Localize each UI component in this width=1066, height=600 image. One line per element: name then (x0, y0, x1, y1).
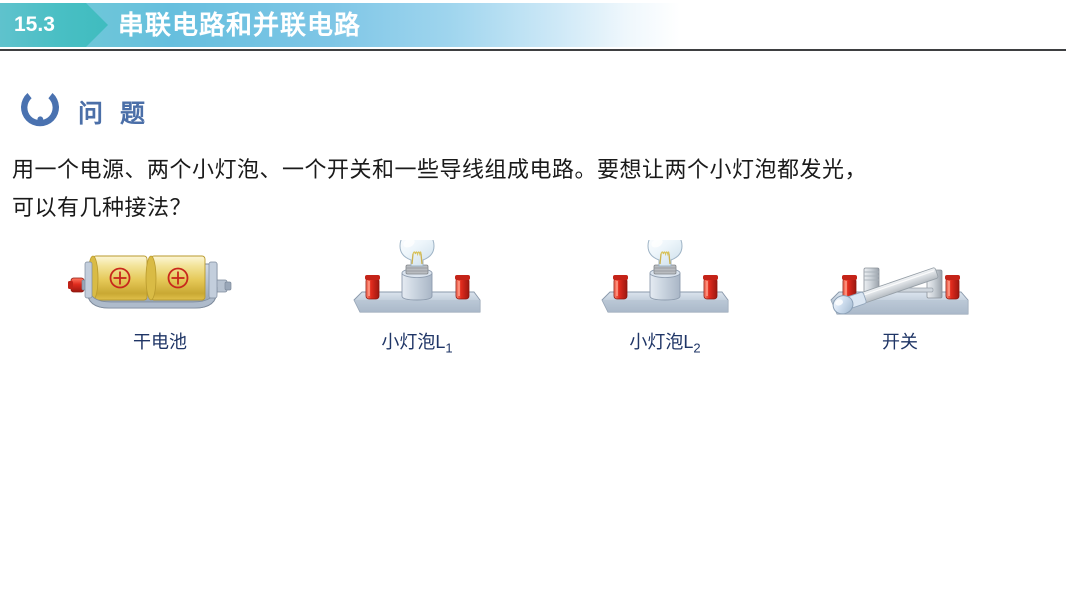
section-number: 15.3 (14, 10, 55, 40)
apparatus-caption-bulb-2: 小灯泡L2 (570, 328, 760, 356)
knife-switch-figure (805, 240, 995, 326)
apparatus-caption-switch-text: 开关 (882, 332, 918, 352)
apparatus-caption-battery-text: 干电池 (133, 332, 187, 352)
question-body-line-2: 可以有几种接法？ (12, 190, 1052, 228)
apparatus-item-battery: 干电池 (65, 240, 255, 360)
apparatus-row: 干电池 (0, 240, 1066, 360)
header-divider-rule (0, 49, 1066, 51)
question-body-line-1: 用一个电源、两个小灯泡、一个开关和一些导线组成电路。要想让两个小灯泡都发光， (12, 152, 1052, 190)
page-title: 串联电路和并联电路 (118, 6, 361, 44)
header-banner: 15.3 串联电路和并联电路 (0, 0, 1066, 50)
apparatus-item-switch: 开关 (805, 240, 995, 360)
light-bulb-on-base-figure (322, 240, 512, 326)
dry-cell-battery-holder-figure (65, 240, 255, 326)
question-label: 问 题 (78, 94, 150, 130)
apparatus-item-bulb-2: 小灯泡L2 (570, 240, 760, 360)
apparatus-caption-bulb-1-text: 小灯泡L (381, 332, 445, 352)
question-body-text: 用一个电源、两个小灯泡、一个开关和一些导线组成电路。要想让两个小灯泡都发光， 可… (12, 152, 1052, 228)
light-bulb-on-base-figure (570, 240, 760, 326)
apparatus-caption-bulb-1-subscript: 1 (445, 341, 452, 356)
apparatus-item-bulb-1: 小灯泡L1 (322, 240, 512, 360)
apparatus-caption-bulb-2-subscript: 2 (693, 341, 700, 356)
apparatus-caption-battery: 干电池 (65, 328, 255, 354)
question-mark-circle-icon (16, 87, 64, 135)
apparatus-caption-bulb-2-text: 小灯泡L (629, 332, 693, 352)
apparatus-caption-bulb-1: 小灯泡L1 (322, 328, 512, 356)
apparatus-caption-switch: 开关 (805, 328, 995, 354)
